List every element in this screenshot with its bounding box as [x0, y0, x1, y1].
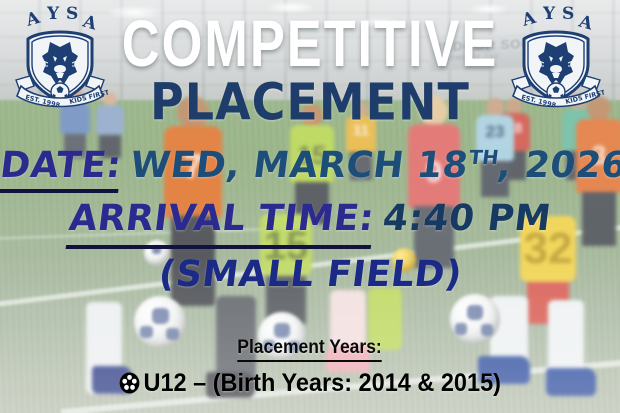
svg-text:S: S [66, 6, 78, 24]
age-group-text: U12 – (Birth Years: 2014 & 2015) [143, 369, 500, 397]
date-value-year: , 2026 [495, 145, 620, 186]
date-ordinal-suffix: TH [468, 146, 500, 169]
placement-years-block: Placement Years: U12 – (Birth Years: 201… [0, 336, 620, 401]
svg-text:A: A [80, 11, 100, 34]
soccer-ball-icon [119, 371, 140, 401]
svg-text:A: A [23, 8, 43, 31]
field-note-line: (SMALL FIELD) [0, 249, 620, 300]
placement-years-heading: Placement Years: [238, 336, 382, 362]
svg-text:Y: Y [46, 6, 60, 24]
field-note: (SMALL FIELD) [156, 250, 465, 300]
arrival-line: ARRIVAL TIME: 4:40 PM [0, 193, 620, 249]
arrival-time-label: ARRIVAL TIME: [65, 194, 376, 249]
date-label: DATE: [0, 144, 124, 193]
date-line: DATE: WED, MARCH 18TH, 2026 [0, 136, 620, 193]
svg-text:S: S [562, 6, 574, 24]
date-value-main: WED, MARCH 18 [128, 145, 471, 186]
age-group-line: U12 – (Birth Years: 2014 & 2015) [19, 368, 602, 401]
arrival-time-value: 4:40 PM [380, 194, 554, 244]
aysa-logo-right: A Y S A [508, 6, 604, 110]
event-details-block: DATE: WED, MARCH 18TH, 2026 ARRIVAL TIME… [0, 136, 620, 300]
svg-text:A: A [519, 8, 539, 31]
aysa-logo-left: A Y S A [12, 6, 108, 110]
svg-text:A: A [576, 11, 596, 34]
svg-text:Y: Y [542, 6, 556, 24]
date-value: WED, MARCH 18TH, 2026 [128, 136, 620, 188]
competitive-placement-flyer: INDOOR SOCCER HOME OF THE 7 11 [0, 0, 620, 413]
